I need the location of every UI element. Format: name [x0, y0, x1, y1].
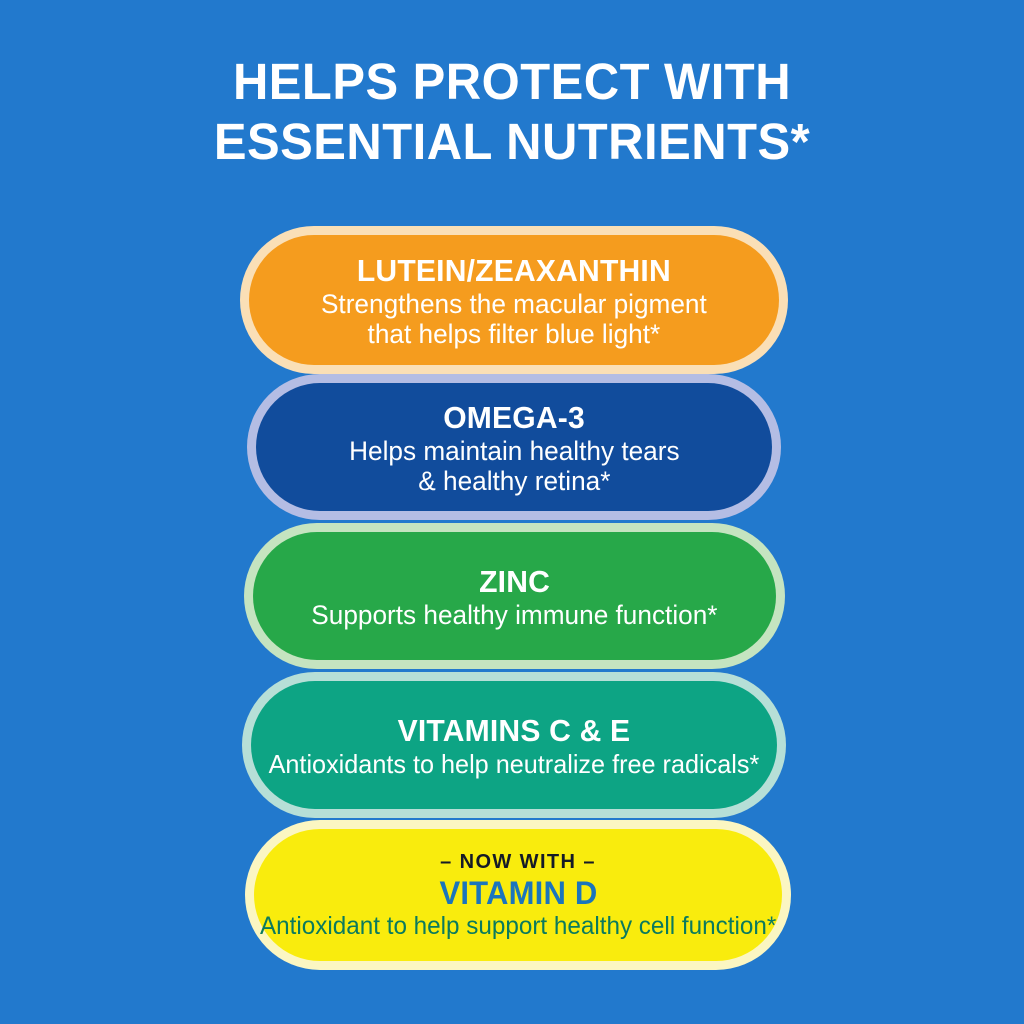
nutrient-title-omega-3: OMEGA-3 — [443, 399, 585, 436]
nutrient-body-line-1: Supports healthy immune function* — [311, 600, 717, 630]
nutrient-title-vitamin-d: VITAMIN D — [439, 874, 597, 912]
nutrient-pill-vitamins-c-and-e: VITAMINS C & E Antioxidants to help neut… — [242, 672, 786, 818]
nutrient-title-lutein-zeaxanthin: LUTEIN/ZEAXANTHIN — [357, 252, 671, 289]
page-title: HELPS PROTECT WITH ESSENTIAL NUTRIENTS* — [20, 52, 1003, 172]
nutrient-body-line-2: & healthy retina* — [349, 466, 679, 496]
nutrient-body-vitamin-d: Antioxidant to help support healthy cell… — [260, 912, 776, 940]
nutrient-body-line-1: Helps maintain healthy tears — [349, 436, 679, 466]
nutrient-pill-vitamin-d: – NOW WITH – VITAMIN D Antioxidant to he… — [245, 820, 791, 970]
nutrient-title-zinc: ZINC — [479, 563, 550, 600]
nutrient-eyebrow-now-with: – NOW WITH – — [440, 850, 596, 874]
nutrient-pill-vitamin-d-inner: – NOW WITH – VITAMIN D Antioxidant to he… — [254, 829, 782, 961]
headline-line-2: ESSENTIAL NUTRIENTS* — [20, 112, 1003, 172]
nutrient-pill-zinc: ZINC Supports healthy immune function* — [244, 523, 785, 669]
nutrient-title-vitamins-c-and-e: VITAMINS C & E — [398, 712, 631, 749]
nutrient-pill-zinc-inner: ZINC Supports healthy immune function* — [253, 532, 776, 660]
nutrient-pill-omega-3-inner: OMEGA-3 Helps maintain healthy tears & h… — [256, 383, 772, 511]
nutrient-body-line-2: that helps filter blue light* — [321, 319, 707, 349]
nutrient-pill-vitamins-c-and-e-inner: VITAMINS C & E Antioxidants to help neut… — [251, 681, 777, 809]
infographic-poster: HELPS PROTECT WITH ESSENTIAL NUTRIENTS* … — [0, 0, 1024, 1024]
nutrient-body-omega-3: Helps maintain healthy tears & healthy r… — [349, 436, 679, 496]
nutrient-pill-omega-3: OMEGA-3 Helps maintain healthy tears & h… — [247, 374, 781, 520]
nutrient-body-line-1: Antioxidants to help neutralize free rad… — [269, 749, 760, 779]
headline-line-1: HELPS PROTECT WITH — [20, 52, 1003, 112]
nutrient-pill-lutein-zeaxanthin-inner: LUTEIN/ZEAXANTHIN Strengthens the macula… — [249, 235, 779, 365]
nutrient-body-vitamins-c-and-e: Antioxidants to help neutralize free rad… — [269, 749, 760, 779]
nutrient-body-line-1: Strengthens the macular pigment — [321, 289, 707, 319]
nutrient-body-line-1: Antioxidant to help support healthy cell… — [260, 912, 776, 940]
nutrient-body-lutein-zeaxanthin: Strengthens the macular pigment that hel… — [321, 289, 707, 349]
nutrient-body-zinc: Supports healthy immune function* — [311, 600, 717, 630]
nutrient-pill-lutein-zeaxanthin: LUTEIN/ZEAXANTHIN Strengthens the macula… — [240, 226, 788, 374]
